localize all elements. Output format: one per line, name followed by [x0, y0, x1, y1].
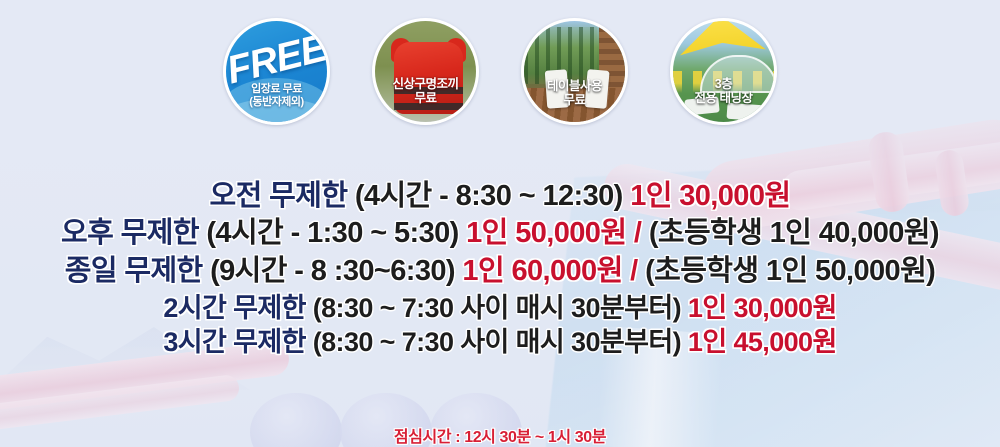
badge-free-caption-main: 입장료 무료	[226, 83, 327, 95]
badge-table-use-caption-sub: 무료	[524, 93, 625, 107]
price-row-allday-extra: (초등학생 1인 50,000원)	[645, 255, 935, 287]
badge-table-use[interactable]: 테이블사용 무료	[521, 18, 628, 125]
price-row-2hour: 2시간 무제한 (8:30 ~ 7:30 사이 매시 30분부터) 1인 30,…	[0, 295, 1000, 322]
price-row-morning-detail: (4시간 - 8:30 ~ 12:30)	[355, 180, 623, 212]
pricing-banner: FREE 입장료 무료 (동반자제외) 신상구명조끼 무료	[0, 0, 1000, 447]
badge-table-use-caption: 테이블사용 무료	[524, 79, 625, 107]
badge-tanning-deck-art	[673, 21, 774, 122]
price-row-afternoon-detail: (4시간 - 1:30 ~ 5:30)	[206, 217, 458, 249]
badge-life-vest-caption-sub: 무료	[375, 91, 476, 105]
badge-tanning-deck-caption-sub: 전용 태닝장	[673, 91, 774, 105]
price-row-allday-price: 1인 60,000원	[462, 255, 622, 287]
price-row-allday: 종일 무제한 (9시간 - 8 :30~6:30) 1인 60,000원 / (…	[0, 257, 1000, 286]
price-row-afternoon: 오후 무제한 (4시간 - 1:30 ~ 5:30) 1인 50,000원 / …	[0, 219, 1000, 248]
lounger-chair-right-icon	[726, 103, 763, 121]
price-row-morning: 오전 무제한 (4시간 - 8:30 ~ 12:30) 1인 30,000원	[0, 182, 1000, 211]
badge-free-caption-sub: (동반자제외)	[226, 96, 327, 108]
price-row-afternoon-label: 오후 무제한	[61, 217, 199, 249]
price-row-morning-price: 1인 30,000원	[630, 180, 790, 212]
price-row-3hour-label: 3시간 무제한	[163, 327, 306, 357]
badge-life-vest[interactable]: 신상구명조끼 무료	[372, 18, 479, 125]
badge-tanning-deck[interactable]: 3층 전용 태닝장	[670, 18, 777, 125]
badge-life-vest-caption: 신상구명조끼 무료	[375, 77, 476, 105]
price-row-allday-separator: /	[630, 255, 637, 287]
badge-free-caption: 입장료 무료 (동반자제외)	[226, 83, 327, 108]
price-row-afternoon-extra: (초등학생 1인 40,000원)	[649, 217, 939, 249]
lunch-time-note: 점심시간 : 12시 30분 ~ 1시 30분	[0, 423, 1000, 447]
price-row-3hour: 3시간 무제한 (8:30 ~ 7:30 사이 매시 30분부터) 1인 45,…	[0, 329, 1000, 356]
badge-life-vest-caption-main: 신상구명조끼	[375, 77, 476, 91]
price-list: 오전 무제한 (4시간 - 8:30 ~ 12:30) 1인 30,000원 오…	[0, 182, 1000, 356]
badge-tanning-deck-caption-main: 3층	[673, 77, 774, 91]
badge-free-admission[interactable]: FREE 입장료 무료 (동반자제외)	[223, 18, 330, 125]
price-row-allday-detail: (9시간 - 8 :30~6:30)	[210, 255, 455, 287]
price-row-2hour-price: 1인 30,000원	[688, 293, 837, 323]
badge-tanning-deck-caption: 3층 전용 태닝장	[673, 77, 774, 105]
badge-table-use-caption-main: 테이블사용	[524, 79, 625, 93]
badge-life-vest-art	[375, 21, 476, 122]
feature-badge-row: FREE 입장료 무료 (동반자제외) 신상구명조끼 무료	[0, 18, 1000, 125]
price-row-3hour-price: 1인 45,000원	[688, 327, 837, 357]
price-row-allday-label: 종일 무제한	[65, 255, 203, 287]
price-row-2hour-detail: (8:30 ~ 7:30 사이 매시 30분부터)	[313, 293, 681, 323]
price-row-2hour-label: 2시간 무제한	[163, 293, 306, 323]
price-row-morning-label: 오전 무제한	[210, 180, 348, 212]
price-row-afternoon-separator: /	[634, 217, 641, 249]
price-row-3hour-detail: (8:30 ~ 7:30 사이 매시 30분부터)	[313, 327, 681, 357]
price-row-afternoon-price: 1인 50,000원	[466, 217, 626, 249]
